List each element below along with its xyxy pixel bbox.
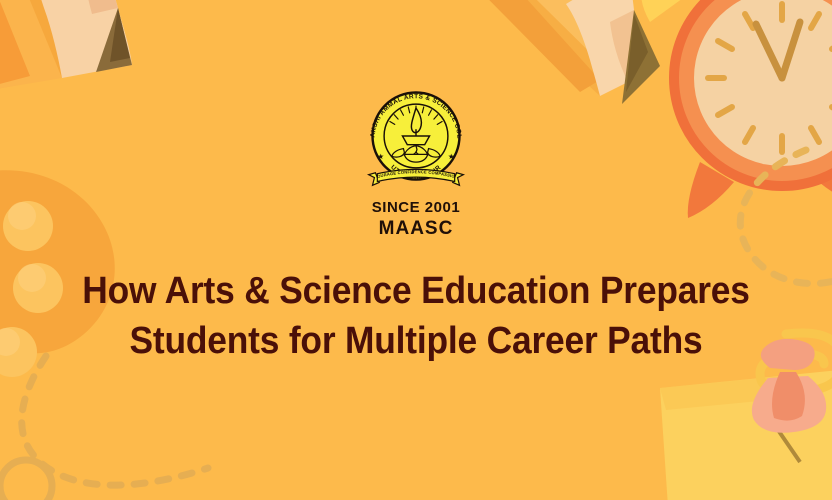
emblem-star-left: ★ bbox=[377, 152, 384, 161]
logo-abbreviation-text: MAASC bbox=[379, 218, 454, 240]
page-title-line-1: How Arts & Science Education Prepares bbox=[63, 266, 770, 316]
logo-since-text: SINCE 2001 bbox=[372, 199, 460, 216]
emblem-lamp-icon bbox=[402, 136, 429, 145]
banner-content: MEENAKSHI AMMAL ARTS & SCIENCE COLLEGE U… bbox=[0, 0, 832, 500]
college-emblem-icon: MEENAKSHI AMMAL ARTS & SCIENCE COLLEGE U… bbox=[358, 78, 474, 194]
emblem-star-right: ★ bbox=[448, 152, 455, 161]
page-title: How Arts & Science Education Prepares St… bbox=[63, 266, 770, 366]
promo-banner: MEENAKSHI AMMAL ARTS & SCIENCE COLLEGE U… bbox=[0, 0, 832, 500]
page-title-line-2: Students for Multiple Career Paths bbox=[63, 316, 770, 366]
college-logo: MEENAKSHI AMMAL ARTS & SCIENCE COLLEGE U… bbox=[358, 78, 474, 240]
